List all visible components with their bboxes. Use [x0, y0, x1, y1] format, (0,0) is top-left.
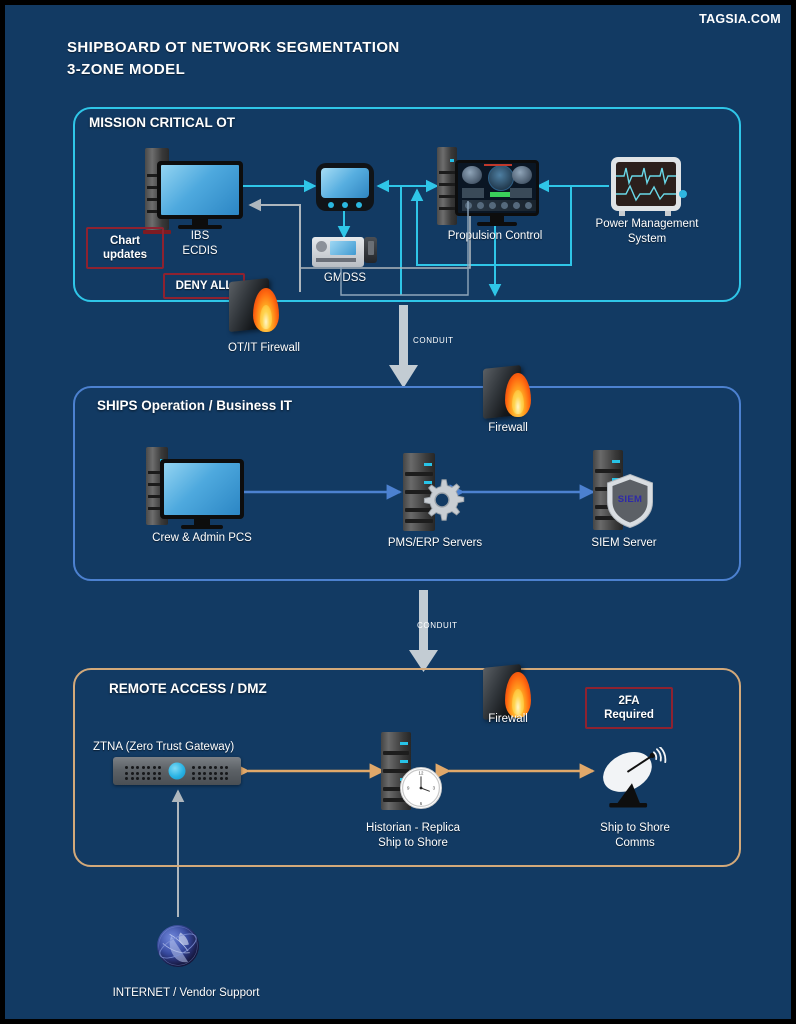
gmdss-label: GMDSS	[305, 271, 385, 286]
ztna-label: ZTNA (Zero Trust Gateway)	[93, 740, 263, 755]
diagram-canvas: TAGSIA.COM SHIPBOARD OT NETWORK SEGMENTA…	[0, 0, 796, 1024]
firewall-2-label: Firewall	[463, 712, 553, 727]
crew-admin-label: Crew & Admin PCS	[131, 531, 273, 546]
clock-icon: 123 69	[400, 767, 442, 809]
annotation-chart-updates: Chart updates	[86, 227, 164, 269]
ot-it-firewall-label: OT/IT Firewall	[203, 341, 325, 356]
historian-label: Historian - Replica Ship to Shore	[345, 821, 481, 850]
zone1-label: MISSION CRITICAL OT	[89, 115, 235, 130]
satellite-dish-icon	[597, 747, 673, 809]
internet-label: INTERNET / Vendor Support	[101, 986, 271, 1001]
ot-it-firewall-icon	[229, 276, 285, 332]
siem-badge-text: SIEM	[605, 494, 655, 505]
firewall-1-label: Firewall	[463, 421, 553, 436]
conduit-arrow-2	[409, 590, 438, 672]
ztna-vent-left	[125, 766, 162, 781]
pms-erp-label: PMS/ERP Servers	[365, 536, 505, 551]
page-title-line1: SHIPBOARD OT NETWORK SEGMENTATION	[67, 37, 400, 59]
conduit-label-2: CONDUIT	[417, 621, 458, 630]
propulsion-tower-icon	[437, 147, 457, 225]
ibs-ecdis-label: IBS ECDIS	[157, 229, 243, 258]
power-management-label: Power Management System	[577, 217, 717, 246]
svg-text:12: 12	[419, 770, 424, 775]
ibs-ecdis-monitor-icon	[157, 161, 243, 223]
siem-server-label: SIEM Server	[569, 536, 679, 551]
page-title-line2: 3-ZONE MODEL	[67, 59, 400, 81]
ship-to-shore-label: Ship to Shore Comms	[577, 821, 693, 850]
gmdss-radio-icon	[312, 237, 378, 267]
ztna-vent-right	[192, 766, 229, 781]
conduit-label-1: CONDUIT	[413, 336, 454, 345]
annotation-2fa-required: 2FA Required	[585, 687, 673, 729]
brand-logo: TAGSIA.COM	[699, 12, 781, 26]
firewall-1-icon	[483, 363, 539, 419]
ztna-gateway-icon	[113, 757, 241, 785]
internet-globe-icon	[157, 925, 199, 967]
zone3-label: REMOTE ACCESS / DMZ	[109, 681, 267, 696]
propulsion-control-label: Propulsion Control	[420, 229, 570, 244]
power-management-monitor-icon	[611, 157, 683, 219]
zone2-label: SHIPS Operation / Business IT	[97, 398, 292, 413]
ztna-status-led	[169, 763, 186, 780]
page-title: SHIPBOARD OT NETWORK SEGMENTATION 3-ZONE…	[67, 37, 400, 81]
chart-plotter-icon	[316, 163, 374, 211]
siem-shield-icon: SIEM	[605, 473, 655, 529]
crew-admin-monitor-icon	[160, 459, 244, 525]
propulsion-monitor-icon	[455, 160, 539, 226]
conduit-arrow-1	[389, 305, 418, 388]
gear-icon	[419, 477, 465, 523]
